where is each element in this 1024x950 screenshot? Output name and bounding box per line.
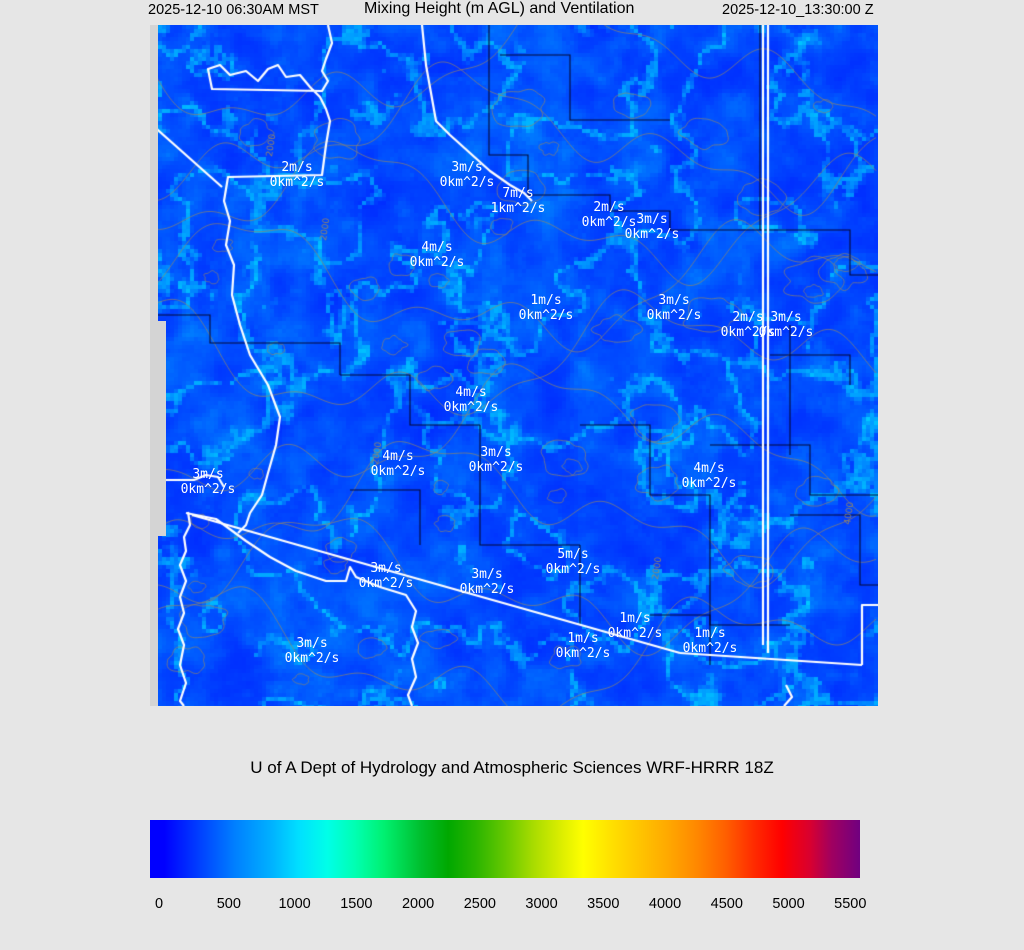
colorbar-tick-2000: 2000 [402,896,434,912]
colorbar-gradient [150,820,860,878]
mixing-height-map[interactable]: 2m/s0km^2/s3m/s0km^2/s7m/s1km^2/s2m/s0km… [150,25,878,706]
map-out-of-domain-strip-lower [150,321,166,536]
map-raster-layer [150,25,878,706]
colorbar-tick-labels: 0500100015002000250030003500400045005000… [150,896,910,918]
colorbar-tick-500: 500 [217,896,241,912]
colorbar-tick-4500: 4500 [711,896,743,912]
colorbar-tick-4000: 4000 [649,896,681,912]
header-bar: 2025-12-10 06:30AM MST Mixing Height (m … [0,0,1024,22]
colorbar [150,820,860,878]
colorbar-tick-5000: 5000 [772,896,804,912]
attribution-caption: U of A Dept of Hydrology and Atmospheric… [0,758,1024,778]
local-time-label: 2025-12-10 06:30AM MST [148,2,319,18]
colorbar-tick-3000: 3000 [525,896,557,912]
colorbar-tick-2500: 2500 [464,896,496,912]
page-title: Mixing Height (m AGL) and Ventilation [364,0,634,18]
colorbar-tick-1500: 1500 [340,896,372,912]
colorbar-tick-3500: 3500 [587,896,619,912]
colorbar-tick-5500: 5500 [834,896,866,912]
colorbar-tick-1000: 1000 [278,896,310,912]
colorbar-tick-0: 0 [155,896,163,912]
valid-time-label: 2025-12-10_13:30:00 Z [722,2,874,18]
